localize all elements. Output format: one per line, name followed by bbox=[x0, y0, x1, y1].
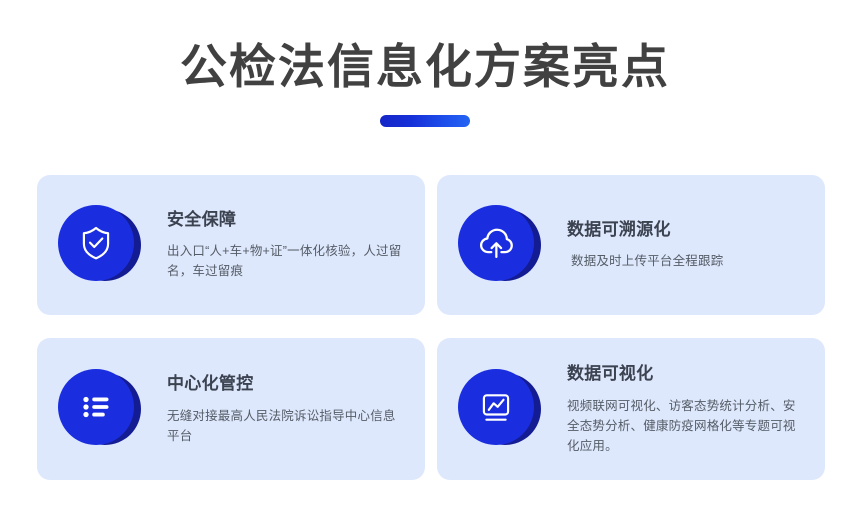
icon-badge bbox=[451, 365, 545, 453]
card-title: 数据可视化 bbox=[567, 363, 805, 385]
card-description: 数据及时上传平台全程跟踪 bbox=[567, 251, 805, 271]
card-text: 安全保障 出入口“人+车+物+证”一体化核验，人过留名，车过留痕 bbox=[145, 209, 409, 281]
feature-highlights-page: 公检法信息化方案亮点 安全保障 出入口“人+车+物+证”一体化核 bbox=[0, 0, 850, 516]
icon-circle bbox=[458, 205, 534, 281]
card-title: 数据可溯源化 bbox=[567, 219, 805, 241]
feature-card-centralized-control[interactable]: 中心化管控 无缝对接最高人民法院诉讼指导中心信息平台 bbox=[37, 338, 425, 480]
title-underline-bar bbox=[380, 115, 470, 127]
card-text: 中心化管控 无缝对接最高人民法院诉讼指导中心信息平台 bbox=[145, 373, 409, 446]
shield-check-icon bbox=[76, 223, 116, 263]
icon-badge bbox=[51, 365, 145, 453]
cloud-upload-icon bbox=[475, 222, 517, 264]
card-title: 安全保障 bbox=[167, 209, 405, 231]
card-description: 出入口“人+车+物+证”一体化核验，人过留名，车过留痕 bbox=[167, 241, 405, 281]
icon-circle bbox=[58, 369, 134, 445]
icon-badge bbox=[51, 201, 145, 289]
icon-circle bbox=[458, 369, 534, 445]
feature-card-security[interactable]: 安全保障 出入口“人+车+物+证”一体化核验，人过留名，车过留痕 bbox=[37, 175, 425, 315]
card-text: 数据可溯源化 数据及时上传平台全程跟踪 bbox=[545, 219, 809, 271]
card-description: 无缝对接最高人民法院诉讼指导中心信息平台 bbox=[167, 406, 405, 446]
icon-circle bbox=[58, 205, 134, 281]
card-text: 数据可视化 视频联网可视化、访客态势统计分析、安全态势分析、健康防疫网格化等专题… bbox=[545, 363, 809, 456]
page-title: 公检法信息化方案亮点 bbox=[0, 0, 850, 96]
icon-badge bbox=[451, 201, 545, 289]
feature-card-data-traceability[interactable]: 数据可溯源化 数据及时上传平台全程跟踪 bbox=[437, 175, 825, 315]
feature-card-data-visualization[interactable]: 数据可视化 视频联网可视化、访客态势统计分析、安全态势分析、健康防疫网格化等专题… bbox=[437, 338, 825, 480]
bullet-list-icon bbox=[76, 387, 116, 427]
page-header: 公检法信息化方案亮点 bbox=[0, 0, 850, 127]
feature-card-grid: 安全保障 出入口“人+车+物+证”一体化核验，人过留名，车过留痕 bbox=[37, 175, 825, 480]
card-title: 中心化管控 bbox=[167, 373, 405, 395]
line-chart-monitor-icon bbox=[476, 387, 516, 427]
card-description: 视频联网可视化、访客态势统计分析、安全态势分析、健康防疫网格化等专题可视化应用。 bbox=[567, 396, 805, 456]
